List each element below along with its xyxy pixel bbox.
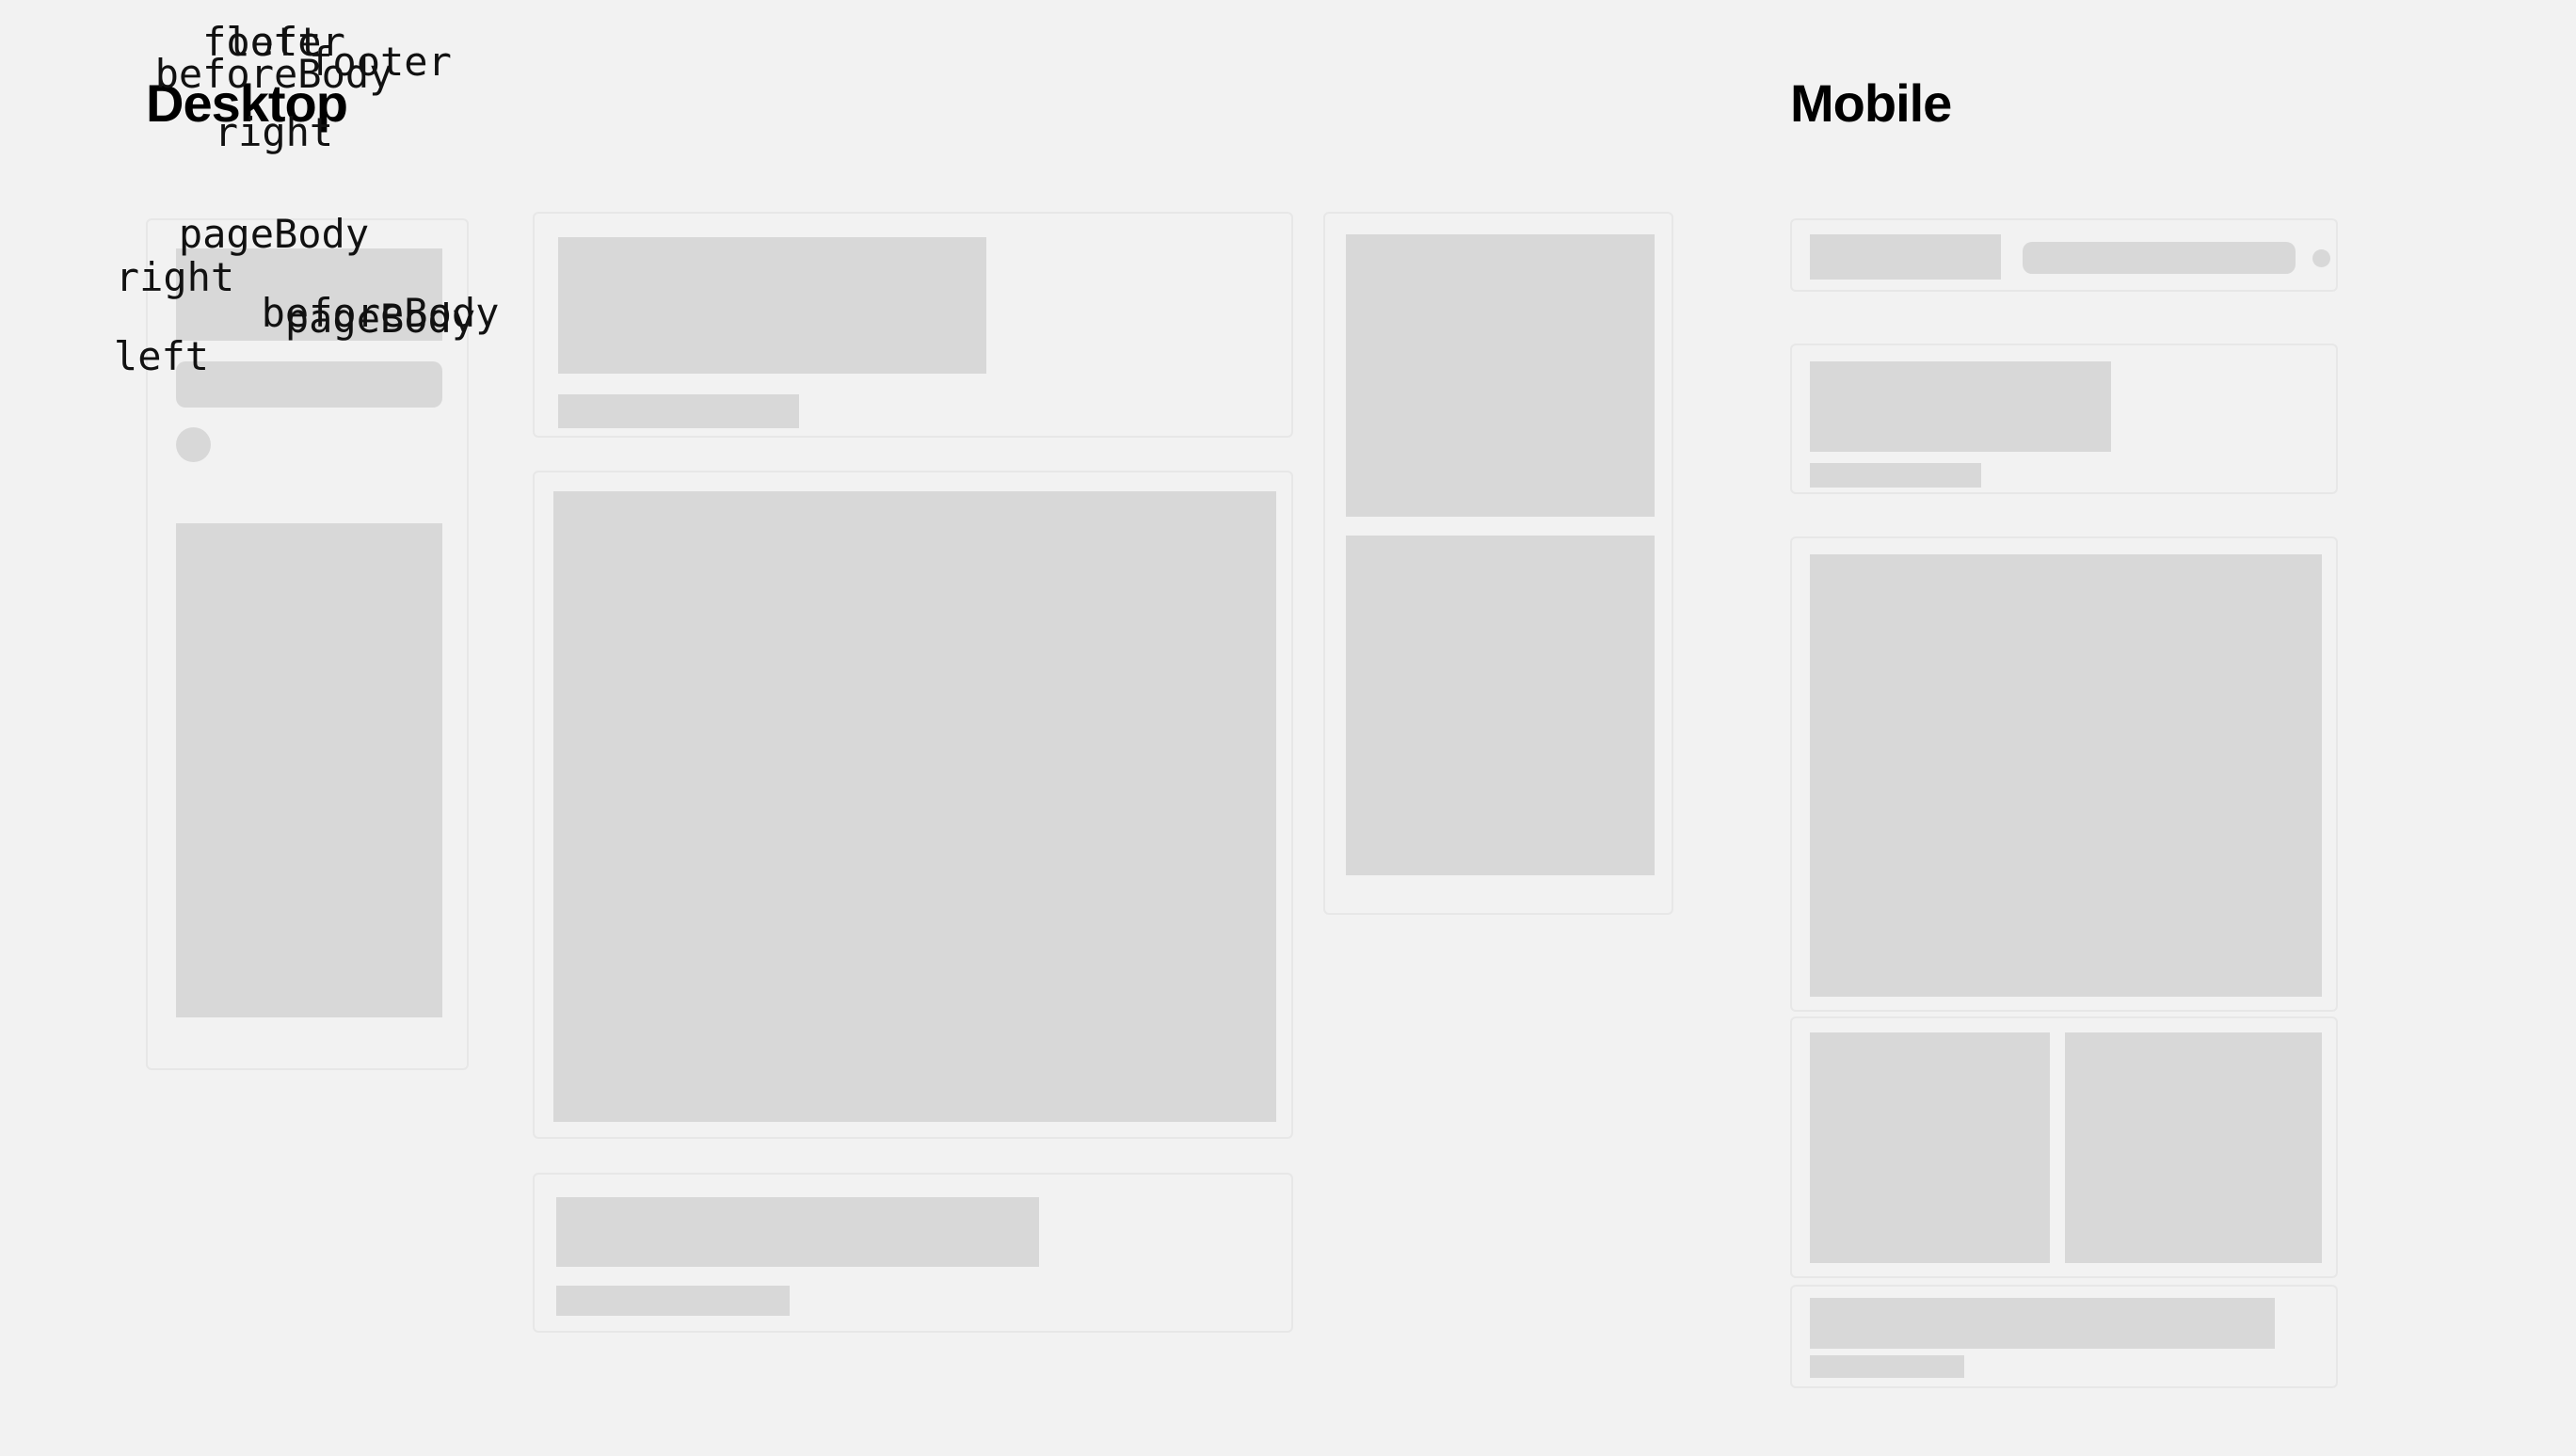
placeholder-bar <box>1810 1298 2275 1349</box>
placeholder-block <box>1810 554 2322 997</box>
placeholder-block <box>2065 1032 2322 1263</box>
placeholder-block <box>1346 234 1655 517</box>
mobile-section-title: Mobile <box>1790 77 1951 130</box>
placeholder-bar <box>556 1197 1039 1267</box>
mobile-slot-right[interactable] <box>1790 1016 2338 1278</box>
placeholder-block <box>1346 536 1655 875</box>
desktop-slot-right[interactable] <box>1323 212 1673 915</box>
placeholder-avatar-circle <box>2312 249 2330 267</box>
placeholder-block <box>176 248 442 341</box>
placeholder-block <box>558 237 986 374</box>
placeholder-block <box>1810 1032 2050 1263</box>
mobile-slot-label-footer: footer <box>0 23 548 62</box>
mobile-slot-left[interactable] <box>1790 218 2338 292</box>
mobile-slot-beforebody[interactable] <box>1790 344 2338 494</box>
placeholder-bar <box>556 1286 790 1316</box>
desktop-section-title: Desktop <box>146 77 347 130</box>
desktop-slot-left[interactable] <box>146 218 469 1070</box>
desktop-slot-pagebody[interactable] <box>533 471 1293 1139</box>
placeholder-bar <box>2023 242 2296 274</box>
desktop-slot-footer[interactable] <box>533 1173 1293 1333</box>
placeholder-bar <box>176 361 442 408</box>
placeholder-block <box>1810 234 2001 280</box>
wireframe-canvas: Desktop left beforeBody pageBody right f… <box>0 0 2576 1456</box>
placeholder-avatar-circle <box>176 427 211 462</box>
placeholder-bar <box>1810 1355 1964 1378</box>
mobile-slot-footer[interactable] <box>1790 1285 2338 1388</box>
placeholder-bar <box>1810 463 1981 488</box>
placeholder-block <box>553 491 1276 1122</box>
mobile-slot-label-left: left <box>0 23 548 62</box>
placeholder-block <box>1810 361 2111 452</box>
placeholder-bar <box>558 394 799 428</box>
placeholder-block <box>176 523 442 1017</box>
mobile-slot-pagebody[interactable] <box>1790 536 2338 1012</box>
desktop-slot-beforebody[interactable] <box>533 212 1293 438</box>
desktop-slot-label-footer: footer <box>0 42 760 82</box>
